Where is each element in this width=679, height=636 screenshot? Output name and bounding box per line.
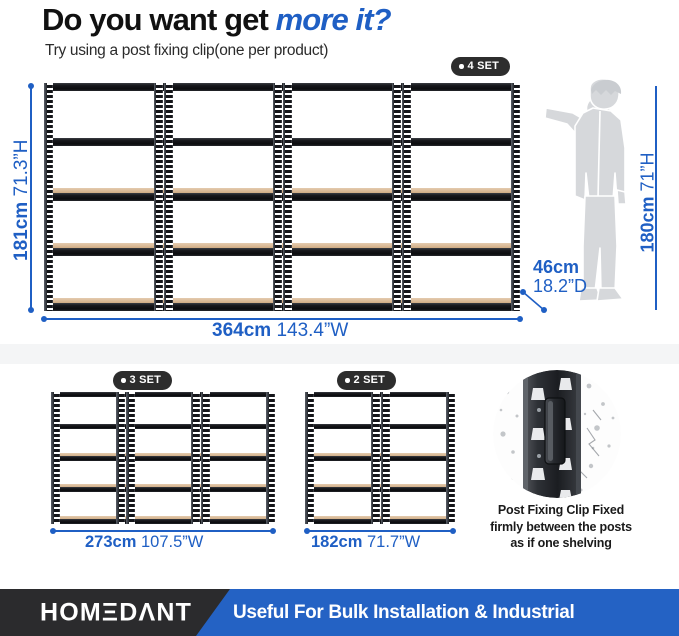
clip-caption-line1: Post Fixing Clip Fixed [481,502,641,519]
shelf-post [381,392,390,524]
post-highlight [201,392,204,524]
main-height-imperial: 71.3”H [11,140,32,197]
headline-plain: Do you want get [42,2,276,37]
shelf-post [305,392,314,524]
height-dim-endpoint-top [28,83,34,89]
shelf-beam [51,519,275,524]
badge-4-set-label: 4 SET [468,60,500,73]
main-width-label: 364cm 143.4”W [212,320,348,342]
badge-dot-icon [121,378,126,383]
person-height-imperial: 71”H [638,152,658,191]
clip-caption: Post Fixing Clip Fixed firmly between th… [481,502,641,552]
person-height-metric: 180cm [638,196,658,252]
two-set-endpoint-left [304,528,310,534]
post-highlight [116,392,119,524]
shelf-post [116,392,125,524]
badge-2-set: 2 SET [337,371,396,390]
post-highlight [44,83,47,311]
footer-tagline: Useful For Bulk Installation & Industria… [233,602,574,624]
clip-caption-line3: as if one shelving [481,535,641,552]
post-highlight [511,83,514,311]
post-highlight [154,83,157,311]
footer-bar: HOMΞDΛNT Useful For Bulk Installation & … [0,589,679,636]
shelf-post [51,392,60,524]
shelf-beam [51,424,275,429]
two-set-metric: 182cm [311,533,362,551]
post-highlight [392,83,395,311]
infographic-page: Do you want get more it? Try using a pos… [0,0,679,636]
shelf-post [266,392,275,524]
post-highlight [164,83,167,311]
post-highlight [446,392,449,524]
main-height-label: 181cm 71.3”H [11,141,33,261]
two-set-width-line [307,530,453,532]
post-highlight [305,392,308,524]
main-width-metric: 364cm [212,320,271,341]
badge-4-set: 4 SET [451,57,510,76]
person-height-label: 180cm 71”H [638,143,659,263]
width-dim-endpoint-left [41,316,47,322]
shelf-post [371,392,380,524]
post-highlight [51,392,54,524]
shelf-post [402,83,411,311]
badge-dot-icon [459,64,464,69]
two-set-endpoint-right [450,528,456,534]
shelf-post [201,392,210,524]
post-highlight [126,392,129,524]
post-fixing-clip-photo [493,370,621,498]
shelf-post [273,83,282,311]
badge-dot-icon [345,378,350,383]
shelf-post [392,83,401,311]
badge-3-set: 3 SET [113,371,172,390]
shelf-post [126,392,135,524]
shelf-post [154,83,163,311]
shelf-beam [51,392,275,397]
badge-2-set-label: 2 SET [354,374,386,387]
shelving-unit-3-set [51,392,275,524]
three-set-width-label: 273cm 107.5”W [85,533,203,552]
post-highlight [381,392,384,524]
shelf-post [44,83,53,311]
three-set-endpoint-left [50,528,56,534]
three-set-metric: 273cm [85,533,136,551]
three-set-imperial: 107.5”W [141,533,203,551]
shelf-beam [51,487,275,492]
shelf-beam [51,456,275,461]
shelf-post [164,83,173,311]
shelving-unit-4-set [44,83,520,311]
post-highlight [191,392,194,524]
three-set-endpoint-right [270,528,276,534]
shelf-post [283,83,292,311]
main-depth-label: 46cm18.2”D [533,258,587,296]
main-height-metric: 181cm [11,202,32,261]
two-set-imperial: 71.7”W [367,533,420,551]
main-depth-imperial: 18.2”D [533,276,587,296]
badge-3-set-label: 3 SET [130,374,162,387]
post-highlight [371,392,374,524]
three-set-width-line [53,530,273,532]
two-set-width-label: 182cm 71.7”W [311,533,420,552]
post-highlight [266,392,269,524]
post-highlight [273,83,276,311]
brand-logo: HOMΞDΛNT [40,598,192,627]
shelf-post [511,83,520,311]
post-highlight [283,83,286,311]
section-divider-band [0,344,679,364]
post-highlight [402,83,405,311]
main-depth-metric: 46cm [533,257,579,277]
shelf-post [191,392,200,524]
shelving-unit-2-set [305,392,455,524]
page-title: Do you want get more it? [42,2,391,38]
headline-accent: more it? [276,2,391,37]
main-width-imperial: 143.4”W [276,320,348,341]
shelf-post [446,392,455,524]
height-dim-endpoint-bottom [28,307,34,313]
clip-caption-line2: firmly between the posts [481,519,641,536]
page-subtitle: Try using a post fixing clip(one per pro… [45,42,328,60]
